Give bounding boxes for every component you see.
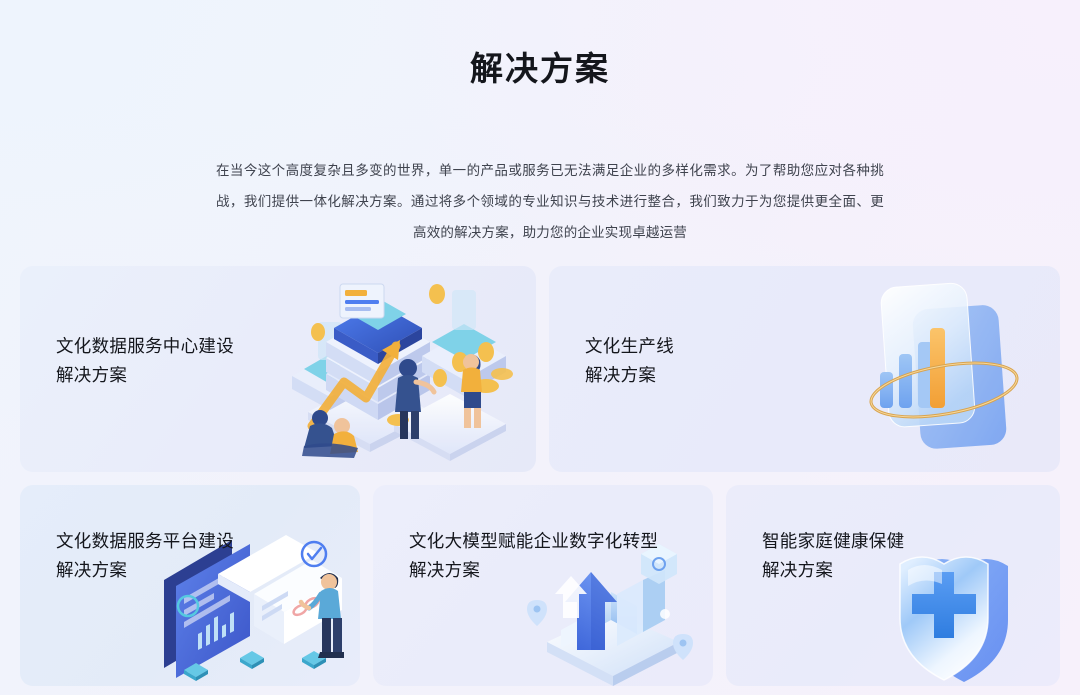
solution-card-culture-data-service-center[interactable]: 文化数据服务中心建设 解决方案 — [20, 266, 536, 472]
solution-card-title: 文化数据服务中心建设 解决方案 — [56, 332, 234, 390]
intro-paragraph: 在当今这个高度复杂且多变的世界，单一的产品或服务已无法满足企业的多样化需求。为了… — [216, 155, 884, 248]
solutions-row-2: 文化数据服务平台建设 解决方案 — [20, 485, 1060, 686]
solution-card-title: 智能家庭健康保健 解决方案 — [762, 527, 904, 585]
page-title: 解决方案 — [0, 46, 1080, 92]
solution-card-culture-data-service-platform[interactable]: 文化数据服务平台建设 解决方案 — [20, 485, 360, 686]
solution-card-title: 文化生产线 解决方案 — [585, 332, 674, 390]
solution-card-title: 文化数据服务平台建设 解决方案 — [56, 527, 234, 585]
solution-card-culture-production-line[interactable]: 文化生产线 解决方案 — [549, 266, 1060, 472]
isometric-servers-illustration — [274, 270, 532, 470]
bar-chart-card-illustration — [844, 272, 1044, 468]
solution-card-title: 文化大模型赋能企业数字化转型 解决方案 — [409, 527, 658, 585]
solution-card-smart-home-health-care[interactable]: 智能家庭健康保健 解决方案 — [726, 485, 1060, 686]
solutions-grid: 文化数据服务中心建设 解决方案 — [20, 266, 1060, 686]
solutions-row-1: 文化数据服务中心建设 解决方案 — [20, 266, 1060, 472]
solution-card-culture-large-model-digital-transformation[interactable]: 文化大模型赋能企业数字化转型 解决方案 — [373, 485, 713, 686]
solutions-page: 解决方案 在当今这个高度复杂且多变的世界，单一的产品或服务已无法满足企业的多样化… — [0, 0, 1080, 695]
